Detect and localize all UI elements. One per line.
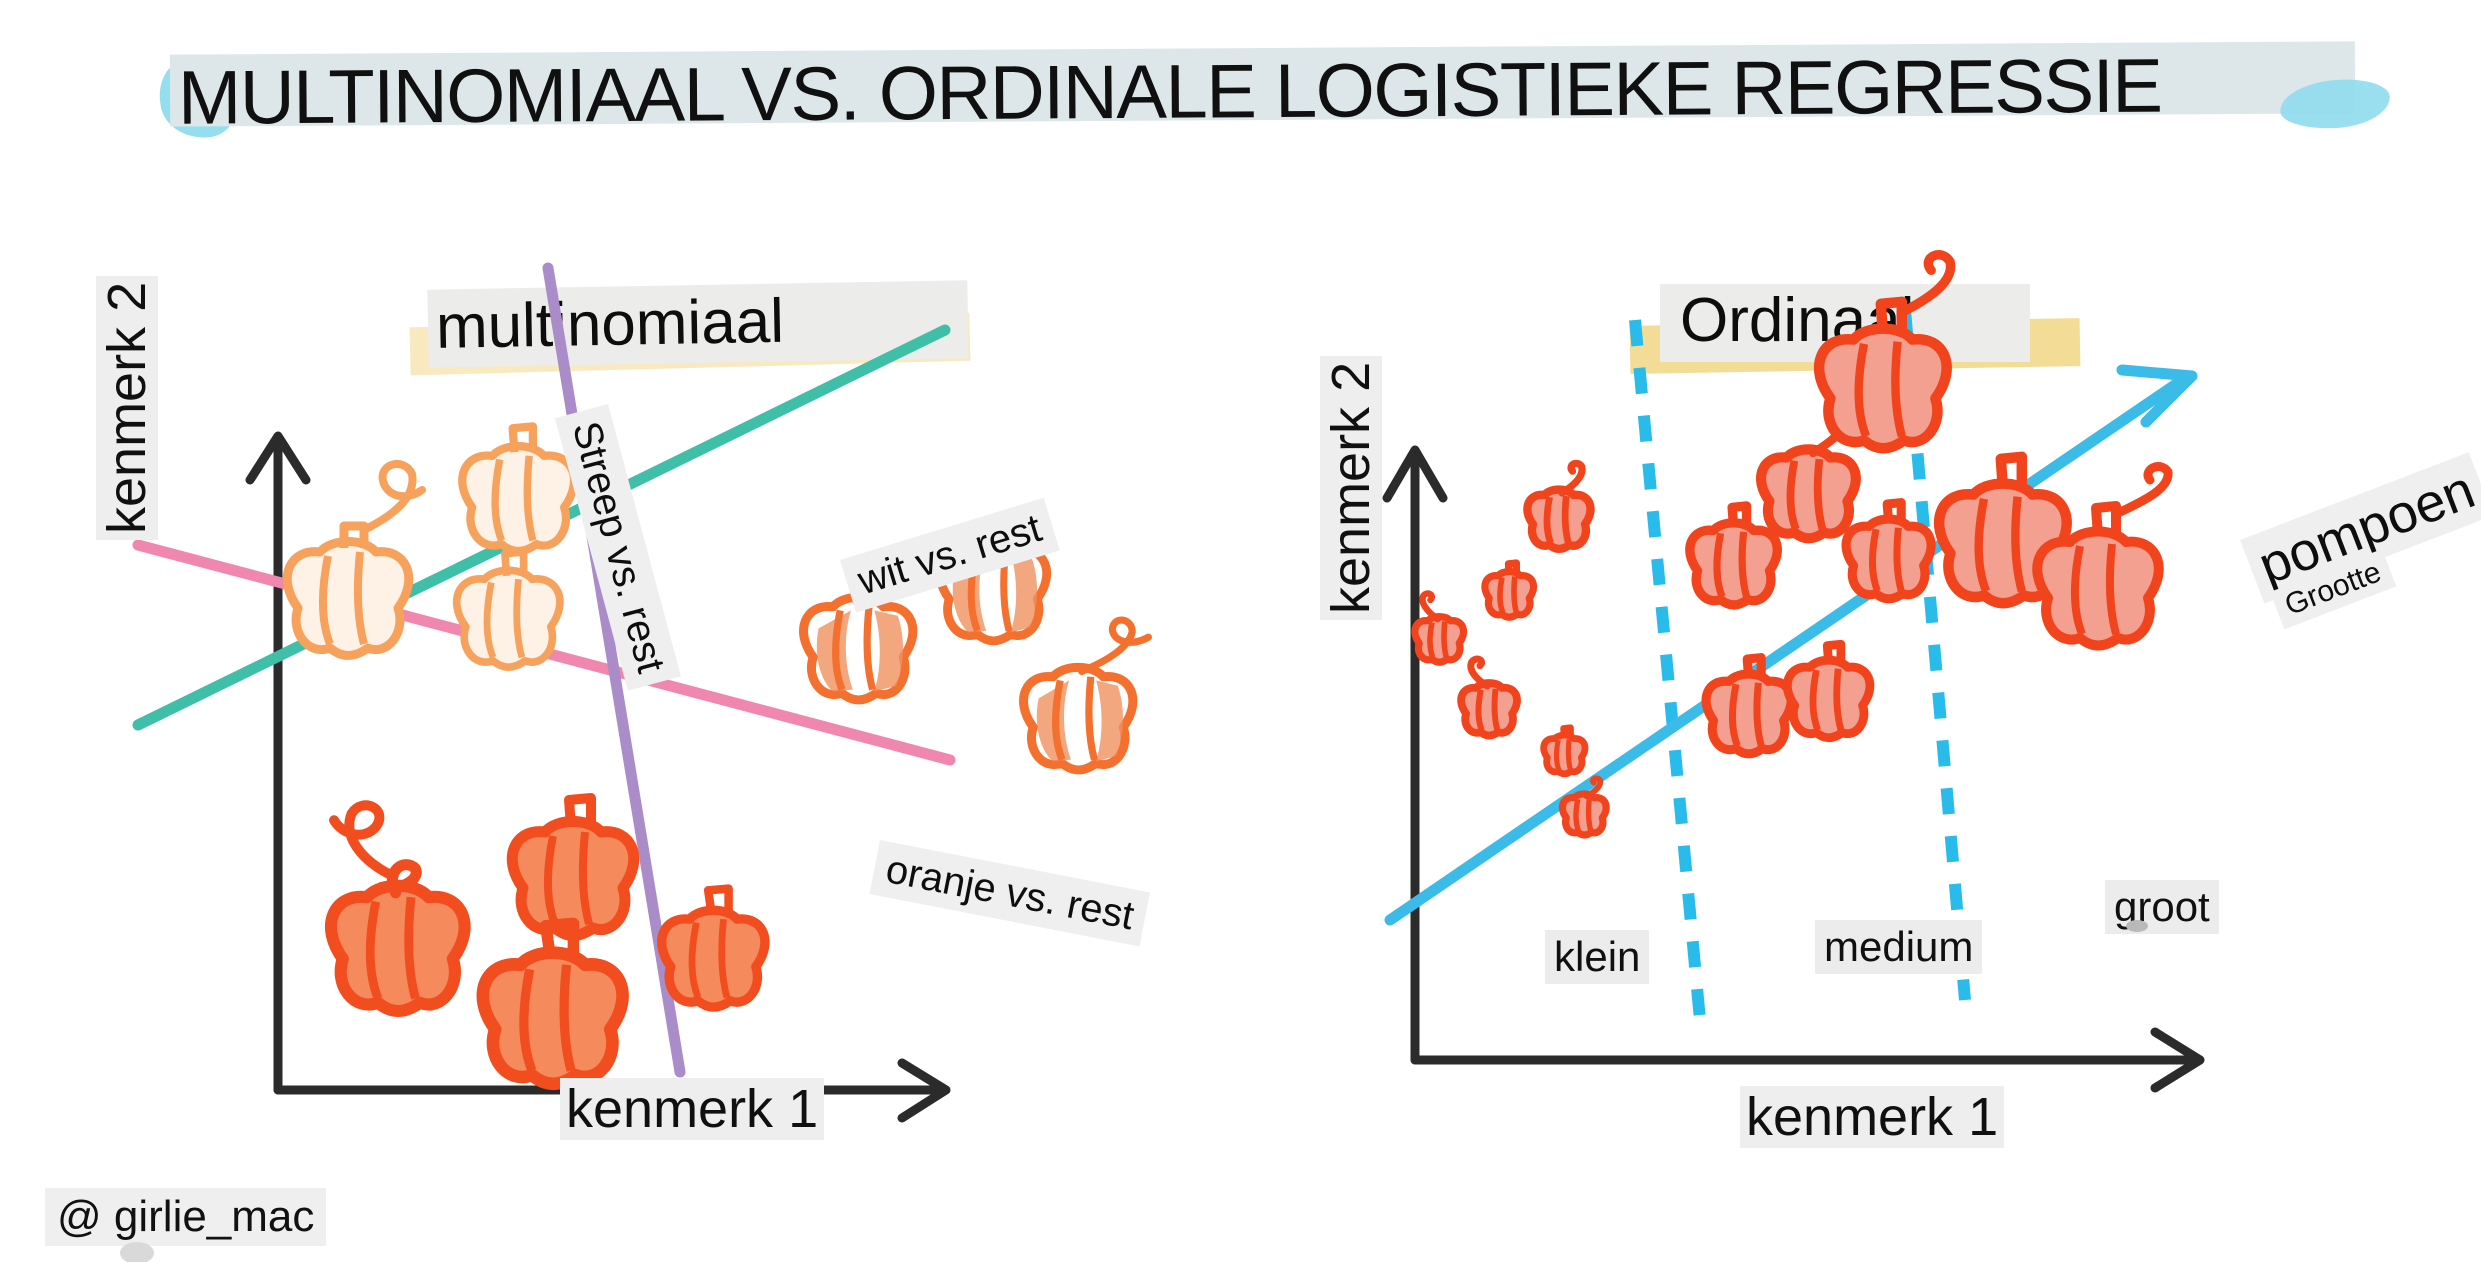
pumpkin-oranje-4 — [662, 889, 765, 1008]
pumpkin-klein-5 — [1544, 728, 1585, 774]
pumpkin-medium-5 — [1787, 644, 1870, 738]
pumpkin-medium-4 — [1706, 658, 1791, 754]
pumpkin-streep-3 — [1024, 620, 1149, 770]
divider-klein-medium — [1635, 320, 1700, 1020]
right-y-axis-label: kenmerk 2 — [1320, 356, 1382, 620]
pumpkin-klein-3 — [1527, 463, 1590, 548]
left-x-axis-label: kenmerk 1 — [560, 1078, 824, 1140]
left-y-axis-label: kenmerk 2 — [96, 276, 158, 540]
groot-label-smudge — [2126, 920, 2148, 932]
pumpkin-wit-2 — [462, 426, 574, 551]
author-handle: @ girlie_mac — [45, 1188, 326, 1246]
pumpkin-oranje-3 — [483, 923, 623, 1083]
right-chart — [1380, 400, 2481, 1100]
category-label-klein: klein — [1545, 930, 1649, 984]
author-handle-smudge — [120, 1242, 154, 1262]
right-x-axis-label: kenmerk 1 — [1740, 1086, 2004, 1148]
slide-canvas: MULTINOMIAAL VS. ORDINALE LOGISTIEKE REG… — [0, 0, 2481, 1262]
multinomiaal-heading: multinomiaal — [435, 287, 996, 367]
category-label-medium: medium — [1815, 920, 1982, 974]
category-label-groot: groot — [2105, 880, 2219, 934]
pumpkin-oranje-1 — [331, 805, 465, 1011]
pumpkin-groot-3 — [2037, 467, 2168, 646]
pumpkin-oranje-2 — [512, 798, 633, 936]
pumpkin-medium-1 — [1690, 506, 1777, 605]
pumpkin-klein-4 — [1461, 659, 1517, 736]
page-title: MULTINOMIAAL VS. ORDINALE LOGISTIEKE REG… — [178, 45, 2378, 138]
left-chart — [150, 400, 1300, 1100]
pumpkin-klein-2 — [1485, 563, 1534, 617]
pumpkin-klein-1 — [1415, 593, 1464, 662]
pumpkin-wit-3 — [457, 552, 560, 667]
pumpkin-wit-1 — [287, 464, 422, 656]
